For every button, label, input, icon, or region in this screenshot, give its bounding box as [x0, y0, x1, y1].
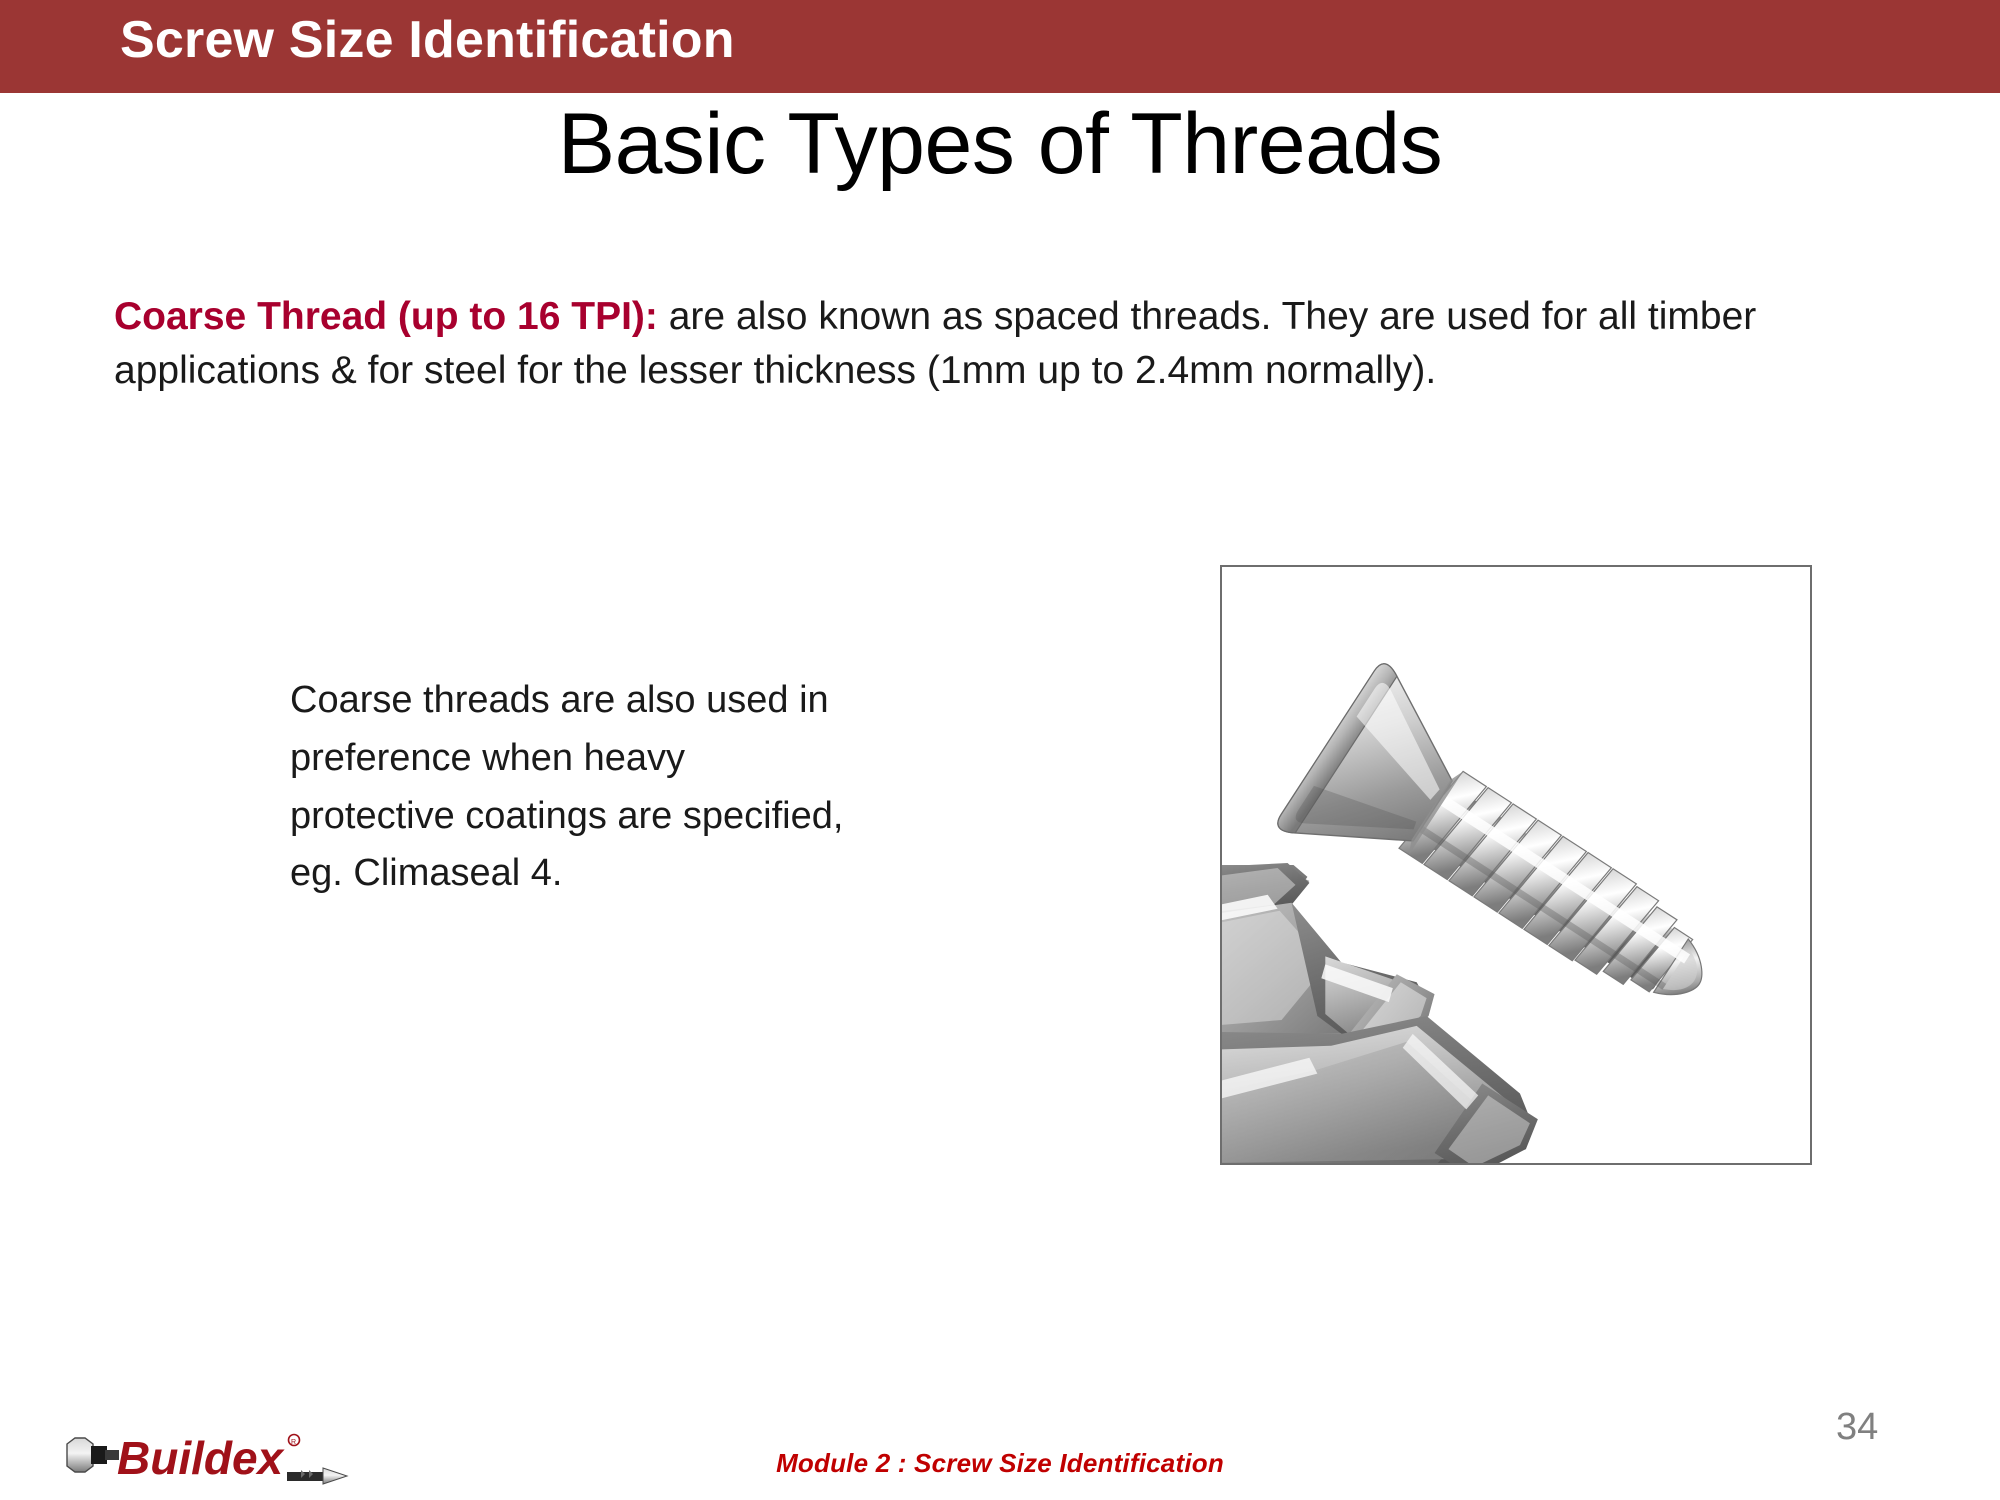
slide-canvas: Screw Size Identification Basic Types of… [0, 0, 2000, 1500]
svg-text:R: R [291, 1439, 296, 1446]
coarse-thread-label: Coarse Thread (up to 16 TPI): [114, 295, 658, 338]
body-paragraph: Coarse Thread (up to 16 TPI): are also k… [114, 290, 1914, 398]
header-title: Screw Size Identification [120, 12, 735, 69]
header-band: Screw Size Identification [0, 0, 2000, 93]
note-line: preference when heavy [290, 730, 1010, 788]
footer-module-label: Module 2 : Screw Size Identification [0, 1448, 2000, 1479]
note-line: protective coatings are specified, [290, 788, 1010, 846]
screw-figure [1220, 565, 1812, 1165]
note-block: Coarse threads are also used in preferen… [290, 672, 1010, 903]
screw-illustration-svg [1222, 567, 1810, 1163]
page-title: Basic Types of Threads [0, 96, 2000, 192]
note-line: Coarse threads are also used in [290, 672, 1010, 730]
page-number: 34 [1836, 1406, 1878, 1449]
note-line: eg. Climaseal 4. [290, 845, 1010, 903]
